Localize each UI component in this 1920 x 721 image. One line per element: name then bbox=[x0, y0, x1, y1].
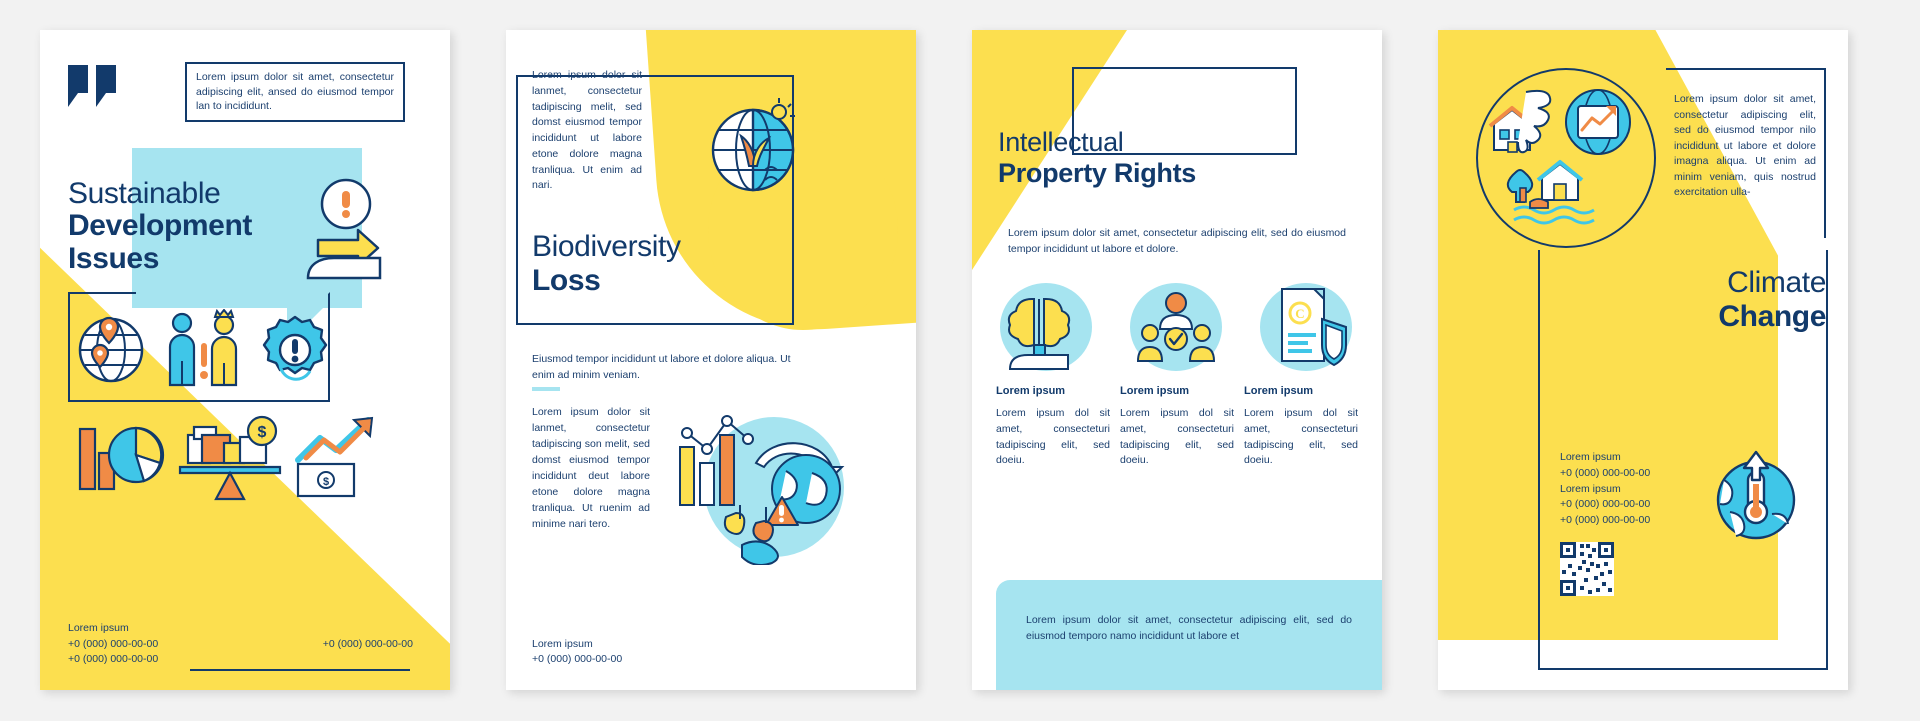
contact-label: Lorem ipsum bbox=[68, 621, 413, 637]
intro-text: Lorem ipsum dolor sit amet, consectetur … bbox=[1008, 226, 1346, 258]
feature-columns: Lorem ipsum Lorem ipsum dol sit amet, co… bbox=[996, 385, 1358, 469]
contact-label-2: Lorem ipsum bbox=[1560, 482, 1650, 498]
globe-pin-icon bbox=[74, 313, 148, 387]
footer-rule bbox=[190, 669, 410, 672]
page-title: Intellectual Property Rights bbox=[998, 127, 1196, 189]
panel-intellectual-property-rights[interactable]: Intellectual Property Rights Lorem ipsum… bbox=[972, 30, 1382, 690]
title-line-2: Loss bbox=[532, 264, 681, 298]
feature-column: Lorem ipsum Lorem ipsum dol sit amet, co… bbox=[996, 385, 1110, 469]
feature-column: Lorem ipsum Lorem ipsum dol sit amet, co… bbox=[1120, 385, 1234, 469]
svg-text:C: C bbox=[1295, 306, 1304, 321]
title-line-2: Development bbox=[68, 210, 252, 242]
feature-heading: Lorem ipsum bbox=[996, 385, 1110, 397]
feature-icon-row: C bbox=[996, 282, 1356, 372]
quote-box: Lorem ipsum dolor sit amet, consectetur … bbox=[185, 62, 405, 122]
climate-icons-group bbox=[1486, 78, 1648, 240]
feature-heading: Lorem ipsum bbox=[1120, 385, 1234, 397]
contact-label-1: Lorem ipsum bbox=[1560, 450, 1650, 466]
brochure-preview-stage: Lorem ipsum dolor sit amet, consectetur … bbox=[0, 0, 1920, 721]
hand-alert-icon bbox=[302, 178, 394, 283]
title-line-1: Sustainable bbox=[68, 178, 252, 210]
brain-hand-icon bbox=[996, 281, 1096, 373]
contact-block: Lorem ipsum +0 (000) 000-00-00 Lorem ips… bbox=[1560, 450, 1650, 529]
panel-climate-change[interactable]: Lorem ipsum dolor sit amet, consectetur … bbox=[1438, 30, 1848, 690]
title-line-1: Biodiversity bbox=[532, 230, 681, 264]
contact-block: Lorem ipsum +0 (000) 000-00-00 bbox=[532, 637, 622, 669]
panel-biodiversity-loss[interactable]: Lorem ipsum dolor sit lanmet, consectetu… bbox=[506, 30, 916, 690]
quotation-mark-icon bbox=[68, 65, 118, 107]
globe-thermometer-arrow-icon bbox=[1710, 450, 1802, 542]
feature-text: Lorem ipsum dol sit amet, consecteturi t… bbox=[1120, 406, 1234, 469]
contact-phone-right[interactable]: +0 (000) 000-00-00 bbox=[323, 637, 413, 653]
people-alert-icon bbox=[162, 309, 244, 391]
globe-plant-sun-icon bbox=[701, 98, 805, 202]
contact-phone-2[interactable]: +0 (000) 000-00-00 bbox=[68, 652, 413, 668]
footer-callout-box: Lorem ipsum dolor sit amet, consectetur … bbox=[996, 580, 1382, 690]
feature-text: Lorem ipsum dol sit amet, consecteturi t… bbox=[996, 406, 1110, 469]
contact-label: Lorem ipsum bbox=[532, 637, 622, 653]
contact-phone-3[interactable]: +0 (000) 000-00-00 bbox=[1560, 513, 1650, 529]
title-line-1: Intellectual bbox=[998, 127, 1196, 158]
subheading-text: Eiusmod tempor incididunt ut labore et d… bbox=[532, 352, 812, 384]
copyright-shield-icon: C bbox=[1256, 281, 1356, 373]
page-title: Sustainable Development Issues bbox=[68, 178, 252, 275]
icon-row-top bbox=[74, 302, 374, 397]
contact-phone-1[interactable]: +0 (000) 000-00-00 bbox=[68, 637, 158, 653]
title-line-2: Change bbox=[1718, 300, 1826, 334]
footer-text: Lorem ipsum dolor sit amet, consectetur … bbox=[1026, 612, 1352, 645]
house-tree-flood-icon bbox=[1508, 162, 1594, 223]
quote-text: Lorem ipsum dolor sit amet, consectetur … bbox=[196, 70, 394, 115]
panel-sustainable-development-issues[interactable]: Lorem ipsum dolor sit amet, consectetur … bbox=[40, 30, 450, 690]
page-title: Climate Change bbox=[1718, 266, 1826, 333]
scales-dollar-icon: $ bbox=[176, 415, 284, 501]
feature-text: Lorem ipsum dol sit amet, consecteturi t… bbox=[1244, 406, 1358, 469]
title-line-1: Climate bbox=[1718, 266, 1826, 300]
bar-pie-chart-icon bbox=[74, 419, 166, 497]
growth-arrow-icon: $ bbox=[294, 416, 390, 500]
people-check-icon bbox=[1126, 281, 1226, 373]
globe-thermometer-icon bbox=[1566, 90, 1630, 154]
contact-phone-1[interactable]: +0 (000) 000-00-00 bbox=[1560, 466, 1650, 482]
contact-phone-1[interactable]: +0 (000) 000-00-00 bbox=[532, 652, 622, 668]
accent-divider bbox=[532, 387, 560, 391]
body-text: Lorem ipsum dolor sit lanmet, consectetu… bbox=[532, 405, 650, 533]
side-text: Lorem ipsum dolor sit amet, consectetur … bbox=[1674, 92, 1816, 201]
contact-phone-2[interactable]: +0 (000) 000-00-00 bbox=[1560, 497, 1650, 513]
contact-block: Lorem ipsum +0 (000) 000-00-00 +0 (000) … bbox=[68, 621, 413, 668]
title-line-3: Issues bbox=[68, 243, 252, 275]
feature-heading: Lorem ipsum bbox=[1244, 385, 1358, 397]
icon-row-bottom: $ $ bbox=[74, 408, 394, 508]
house-tornado-icon bbox=[1490, 91, 1550, 152]
svg-text:$: $ bbox=[323, 476, 329, 488]
qr-code-icon[interactable] bbox=[1560, 542, 1614, 596]
gear-alert-icon bbox=[258, 313, 332, 387]
intro-text: Lorem ipsum dolor sit lanmet, consectetu… bbox=[532, 68, 642, 194]
globe-chart-warning-icon bbox=[656, 385, 886, 565]
svg-text:$: $ bbox=[258, 424, 267, 441]
feature-column: Lorem ipsum Lorem ipsum dol sit amet, co… bbox=[1244, 385, 1358, 469]
page-title: Biodiversity Loss bbox=[532, 230, 681, 297]
side-text-box: Lorem ipsum dolor sit amet, consectetur … bbox=[1666, 68, 1826, 238]
title-line-2: Property Rights bbox=[998, 158, 1196, 189]
